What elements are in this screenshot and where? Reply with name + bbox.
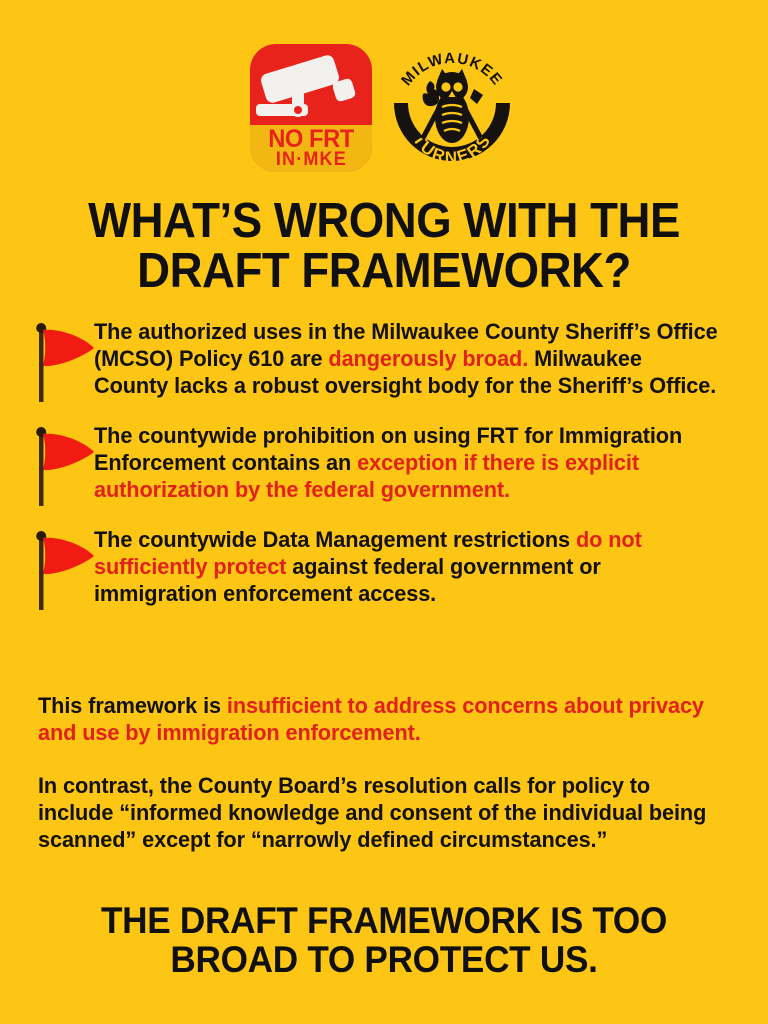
milwaukee-turners-logo: MILWAUKEE TURNERS	[386, 41, 518, 175]
bullet-text-2: The countywide prohibition on using FRT …	[94, 422, 719, 504]
poster-root: NO FRT IN·MKE MILWAUKEE	[0, 0, 768, 1024]
paragraph-county-board-contrast: In contrast, the County Board’s resoluti…	[38, 772, 714, 853]
highlight-text: dangerously broad.	[328, 346, 528, 371]
page-title: WHAT’S WRONG WITH THE DRAFT FRAMEWORK?	[27, 196, 741, 297]
body-text: The countywide Data Management restricti…	[94, 527, 576, 552]
red-flag-icon	[32, 526, 94, 617]
footer-line-1: THE DRAFT FRAMEWORK IS TOO	[19, 902, 749, 941]
milwaukee-turners-seal-icon: MILWAUKEE TURNERS	[386, 41, 518, 175]
footer-line-2: BROAD TO PROTECT US.	[19, 941, 749, 980]
no-frt-line1: NO FRT	[268, 128, 354, 151]
security-camera-icon	[256, 52, 366, 124]
no-frt-in-mke-logo: NO FRT IN·MKE	[250, 44, 372, 172]
no-frt-band: NO FRT IN·MKE	[250, 125, 372, 172]
logo-row: NO FRT IN·MKE MILWAUKEE	[0, 38, 768, 178]
footer-statement: THE DRAFT FRAMEWORK IS TOO BROAD TO PROT…	[19, 902, 749, 980]
headline-line-1: WHAT’S WRONG WITH THE	[27, 196, 741, 246]
red-flag-icon	[32, 422, 94, 513]
headline-line-2: DRAFT FRAMEWORK?	[27, 246, 741, 296]
paragraph-framework-insufficient: This framework is insufficient to addres…	[38, 692, 714, 746]
body-text: In contrast, the County Board’s resoluti…	[38, 773, 706, 852]
bullet-text-3: The countywide Data Management restricti…	[94, 526, 719, 608]
bullet-text-1: The authorized uses in the Milwaukee Cou…	[94, 318, 719, 400]
list-item: The countywide Data Management restricti…	[32, 526, 742, 617]
list-item: The authorized uses in the Milwaukee Cou…	[32, 318, 742, 409]
red-flag-icon	[32, 318, 94, 409]
list-item: The countywide prohibition on using FRT …	[32, 422, 742, 513]
red-flag-bullet-list: The authorized uses in the Milwaukee Cou…	[32, 318, 742, 630]
no-frt-line2: IN·MKE	[275, 151, 346, 168]
body-text: This framework is	[38, 693, 227, 718]
